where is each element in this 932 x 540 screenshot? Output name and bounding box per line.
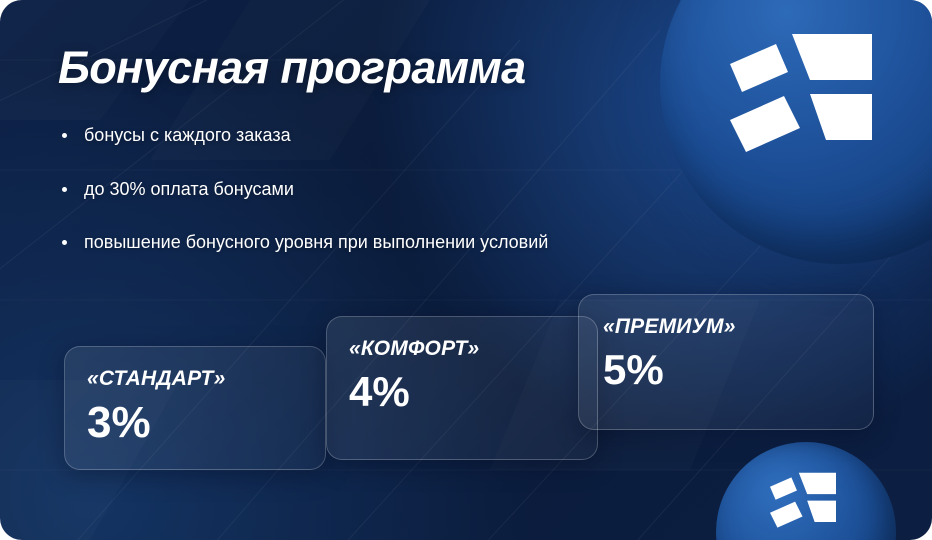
tier-card-premium: «ПРЕМИУМ» 5%	[578, 294, 874, 430]
list-item: бонусы с каждого заказа	[58, 125, 932, 147]
list-item-label: повышение бонусного уровня при выполнени…	[84, 232, 548, 252]
tier-cards: «СТАНДАРТ» 3% «КОМФОРТ» 4% «ПРЕМИУМ» 5%	[60, 294, 880, 474]
bonus-program-banner: Бонусная программа бонусы с каждого зака…	[0, 0, 932, 540]
tier-value: 4%	[349, 371, 575, 413]
bullet-dot-icon	[62, 133, 67, 138]
tier-value: 3%	[87, 401, 303, 445]
list-item: повышение бонусного уровня при выполнени…	[58, 232, 932, 254]
bullet-dot-icon	[62, 240, 67, 245]
page-title: Бонусная программа	[58, 44, 932, 91]
list-item-label: до 30% оплата бонусами	[84, 179, 294, 199]
tier-name: «КОМФОРТ»	[349, 337, 575, 361]
benefits-list: бонусы с каждого заказа до 30% оплата бо…	[58, 125, 932, 254]
list-item-label: бонусы с каждого заказа	[84, 125, 291, 145]
tier-value: 5%	[603, 349, 849, 391]
tier-card-comfort: «КОМФОРТ» 4%	[326, 316, 598, 460]
tier-name: «СТАНДАРТ»	[87, 367, 303, 391]
list-item: до 30% оплата бонусами	[58, 179, 932, 201]
bullet-dot-icon	[62, 187, 67, 192]
company-logo-icon-small	[766, 470, 840, 536]
tier-name: «ПРЕМИУМ»	[603, 315, 849, 339]
banner-content: Бонусная программа бонусы с каждого зака…	[0, 0, 932, 254]
tier-card-standard: «СТАНДАРТ» 3%	[64, 346, 326, 470]
